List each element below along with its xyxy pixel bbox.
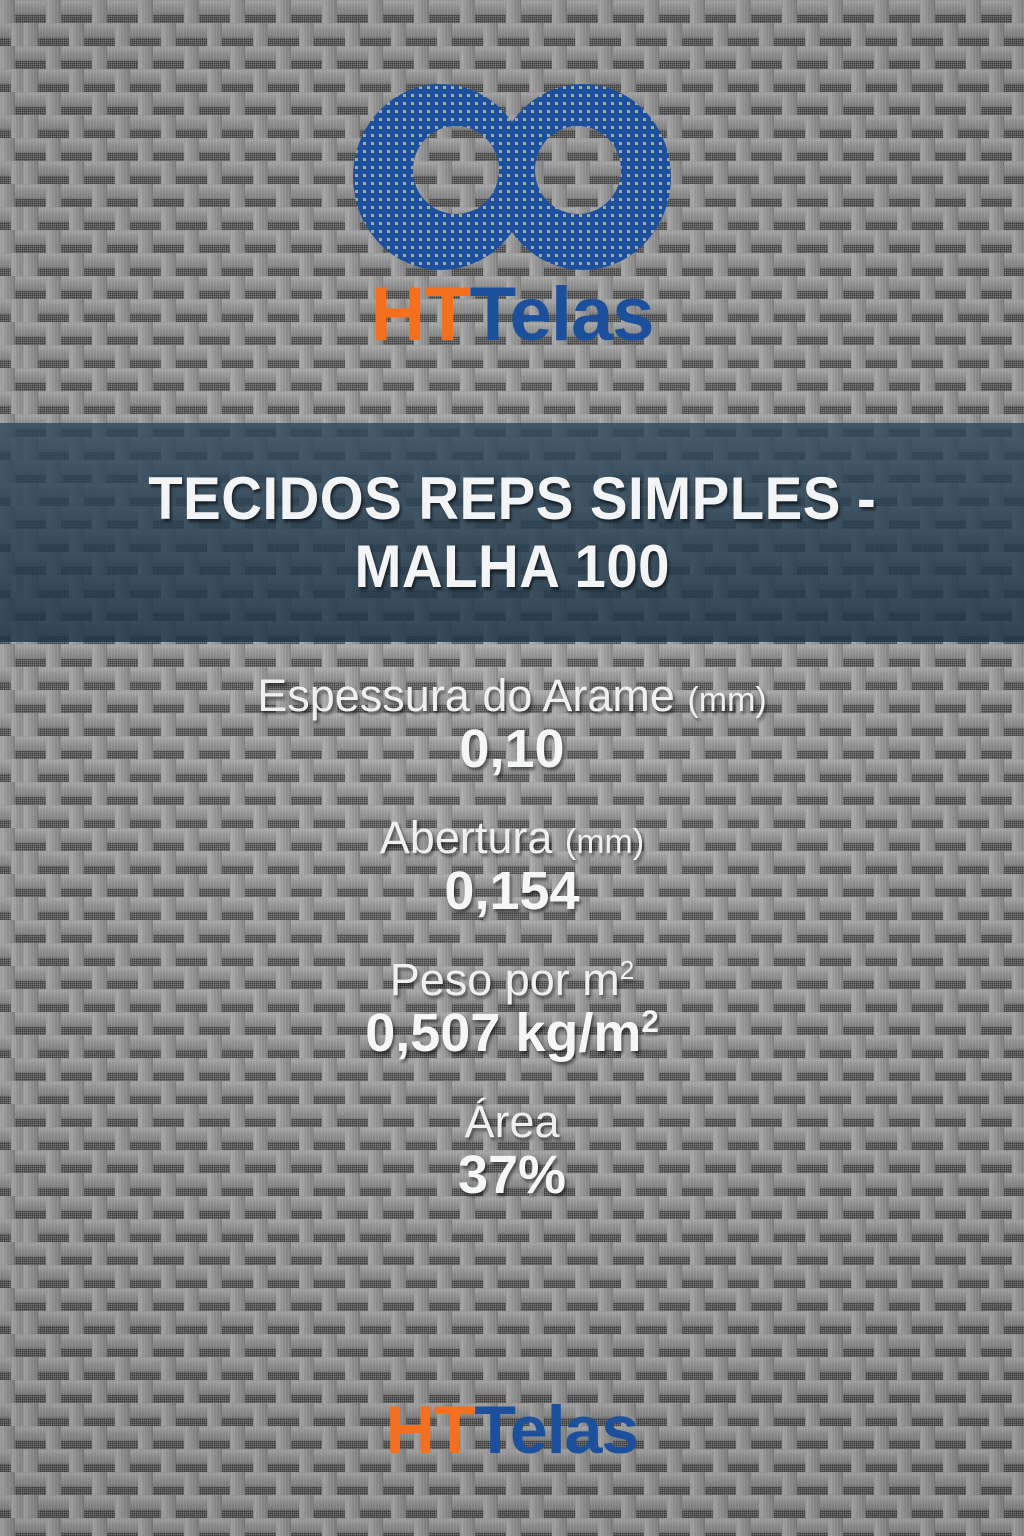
specs-list: Espessura do Arame (mm) 0,10 Abertura (m… [0,672,1024,1204]
spec-label: Abertura (mm) [380,814,644,861]
spec-value-text: 0,507 kg/m [365,1003,641,1063]
spec-row-aperture: Abertura (mm) 0,154 [380,814,644,920]
spec-value: 0,507 kg/m2 [365,1005,659,1062]
spec-row-weight-per-sqm: Peso por m2 0,507 kg/m2 [365,956,659,1062]
spec-label-text: Área [464,1096,559,1147]
spec-row-wire-thickness: Espessura do Arame (mm) 0,10 [257,672,767,778]
page-title: TECIDOS REPS SIMPLES - MALHA 100 [110,465,913,601]
spec-value-superscript: 2 [641,1004,658,1039]
brand-logo-top: HTTelas [0,84,1024,353]
brand-wordmark: HTTelas [370,277,653,353]
spec-label-superscript: 2 [620,955,635,985]
spec-label: Peso por m2 [365,956,659,1003]
spec-label-text: Espessura do Arame [257,670,675,721]
poster-content: HTTelas TECIDOS REPS SIMPLES - MALHA 100… [0,0,1024,1536]
page-title-line1: TECIDOS REPS SIMPLES - [148,465,876,532]
spec-label-text: Peso por m [390,954,620,1005]
title-banner: TECIDOS REPS SIMPLES - MALHA 100 [0,423,1024,642]
spec-value: 0,10 [257,721,767,778]
spec-label-unit: (mm) [565,823,644,861]
brand-wordmark-footer-telas: Telas [474,1392,638,1468]
brand-wordmark-footer-ht: HT [386,1392,475,1468]
page-title-line2: MALHA 100 [354,533,670,600]
spec-label-text: Abertura [380,812,553,863]
spec-label: Espessura do Arame (mm) [257,672,767,719]
product-spec-poster: HTTelas TECIDOS REPS SIMPLES - MALHA 100… [0,0,1024,1536]
spec-value: 37% [458,1147,566,1204]
infinity-rings-icon [353,84,671,271]
brand-wordmark-footer: HTTelas [386,1396,639,1464]
spec-label-unit: (mm) [687,681,766,719]
spec-label: Área [458,1098,566,1145]
spec-value: 0,154 [380,863,644,920]
brand-logo-bottom: HTTelas [0,1396,1024,1464]
brand-wordmark-telas: Telas [470,272,654,357]
spec-row-open-area: Área 37% [458,1098,566,1204]
brand-wordmark-ht: HT [370,272,469,357]
